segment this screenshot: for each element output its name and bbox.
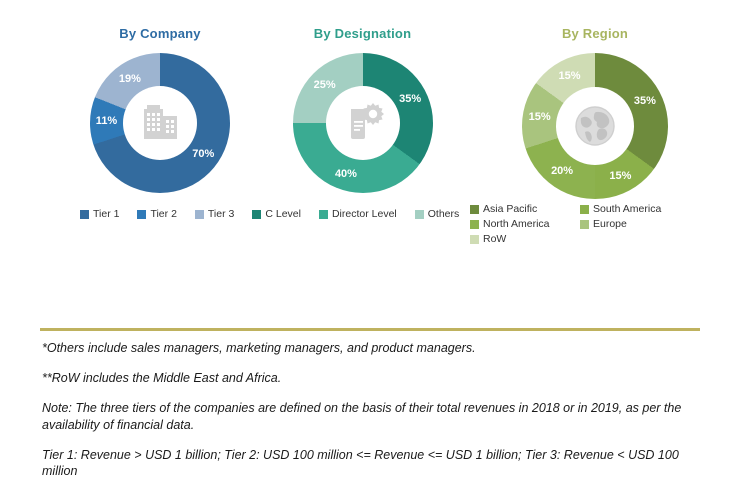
legend-swatch-icon	[415, 210, 424, 219]
legend-region: Asia PacificSouth AmericaNorth AmericaEu…	[470, 203, 685, 245]
legend-main-item[interactable]: Tier 1	[80, 208, 119, 220]
globe-icon	[569, 100, 621, 152]
footnotes: *Others include sales managers, marketin…	[42, 340, 712, 493]
legend-region-item[interactable]: RoW	[470, 233, 580, 245]
segment-label-region-1: 15%	[609, 170, 631, 182]
legend-region-item[interactable]: Europe	[580, 218, 685, 230]
segment-label-region-4: 15%	[559, 70, 581, 82]
legend-label: North America	[483, 218, 550, 230]
legend-swatch-icon	[470, 235, 479, 244]
donut-center-company	[123, 86, 197, 160]
legend-swatch-icon	[195, 210, 204, 219]
segment-label-designation-2: 25%	[314, 79, 336, 91]
legend-swatch-icon	[580, 205, 589, 214]
legend-label: RoW	[483, 233, 506, 245]
legend-swatch-icon	[137, 210, 146, 219]
legend-main-item[interactable]: Tier 3	[195, 208, 234, 220]
legend-region-item[interactable]: North America	[470, 218, 580, 230]
document-gear-icon	[339, 99, 387, 147]
segment-label-designation-0: 35%	[399, 93, 421, 105]
donut-region: 35%15%20%15%15%	[522, 53, 668, 199]
chart-by-designation: By Designation 35%40%25%	[255, 0, 470, 193]
legend-label: Asia Pacific	[483, 203, 537, 215]
legend-label: Tier 3	[208, 208, 234, 220]
chart-by-region: By Region 35%15%20%15%15%	[465, 0, 725, 199]
legend-swatch-icon	[470, 205, 479, 214]
legend-swatch-icon	[470, 220, 479, 229]
donut-center-designation	[326, 86, 400, 160]
segment-label-region-2: 20%	[551, 165, 573, 177]
segment-label-company-0: 70%	[192, 148, 214, 160]
legend-region-item[interactable]: Asia Pacific	[470, 203, 580, 215]
footnote-1: *Others include sales managers, marketin…	[42, 340, 712, 357]
legend-label: Others	[428, 208, 460, 220]
office-building-icon	[136, 99, 184, 147]
section-divider	[40, 328, 700, 331]
legend-swatch-icon	[319, 210, 328, 219]
legend-swatch-icon	[80, 210, 89, 219]
legend-label: Director Level	[332, 208, 397, 220]
donut-company: 70%11%19%	[90, 53, 230, 193]
segment-label-region-3: 15%	[529, 111, 551, 123]
segment-label-company-2: 19%	[119, 73, 141, 85]
legend-region-item[interactable]: South America	[580, 203, 685, 215]
footnote-4: Tier 1: Revenue > USD 1 billion; Tier 2:…	[42, 447, 712, 481]
segment-label-company-1: 11%	[96, 115, 117, 127]
footnote-3: Note: The three tiers of the companies a…	[42, 400, 712, 434]
donut-center-region	[556, 87, 634, 165]
legend-label: C Level	[265, 208, 301, 220]
segment-label-region-0: 35%	[634, 95, 656, 107]
legend-label: Tier 2	[150, 208, 176, 220]
donut-designation: 35%40%25%	[293, 53, 433, 193]
chart-by-company: By Company 70%11%19%	[35, 0, 285, 193]
legend-label: Tier 1	[93, 208, 119, 220]
footnote-2: **RoW includes the Middle East and Afric…	[42, 370, 712, 387]
segment-label-designation-1: 40%	[335, 168, 357, 180]
legend-label: Europe	[593, 218, 627, 230]
legend-main-item[interactable]: Others	[415, 208, 460, 220]
legend-swatch-icon	[252, 210, 261, 219]
legend-main-item[interactable]: C Level	[252, 208, 301, 220]
legend-swatch-icon	[580, 220, 589, 229]
legend-main-item[interactable]: Director Level	[319, 208, 397, 220]
chart-title-region: By Region	[465, 26, 725, 41]
legend-label: South America	[593, 203, 661, 215]
charts-row: By Company 70%11%19% By Designation	[0, 0, 739, 250]
chart-title-designation: By Designation	[255, 26, 470, 41]
legend-company-designation: Tier 1Tier 2Tier 3C LevelDirector LevelO…	[80, 208, 480, 220]
legend-main-item[interactable]: Tier 2	[137, 208, 176, 220]
chart-title-company: By Company	[35, 26, 285, 41]
